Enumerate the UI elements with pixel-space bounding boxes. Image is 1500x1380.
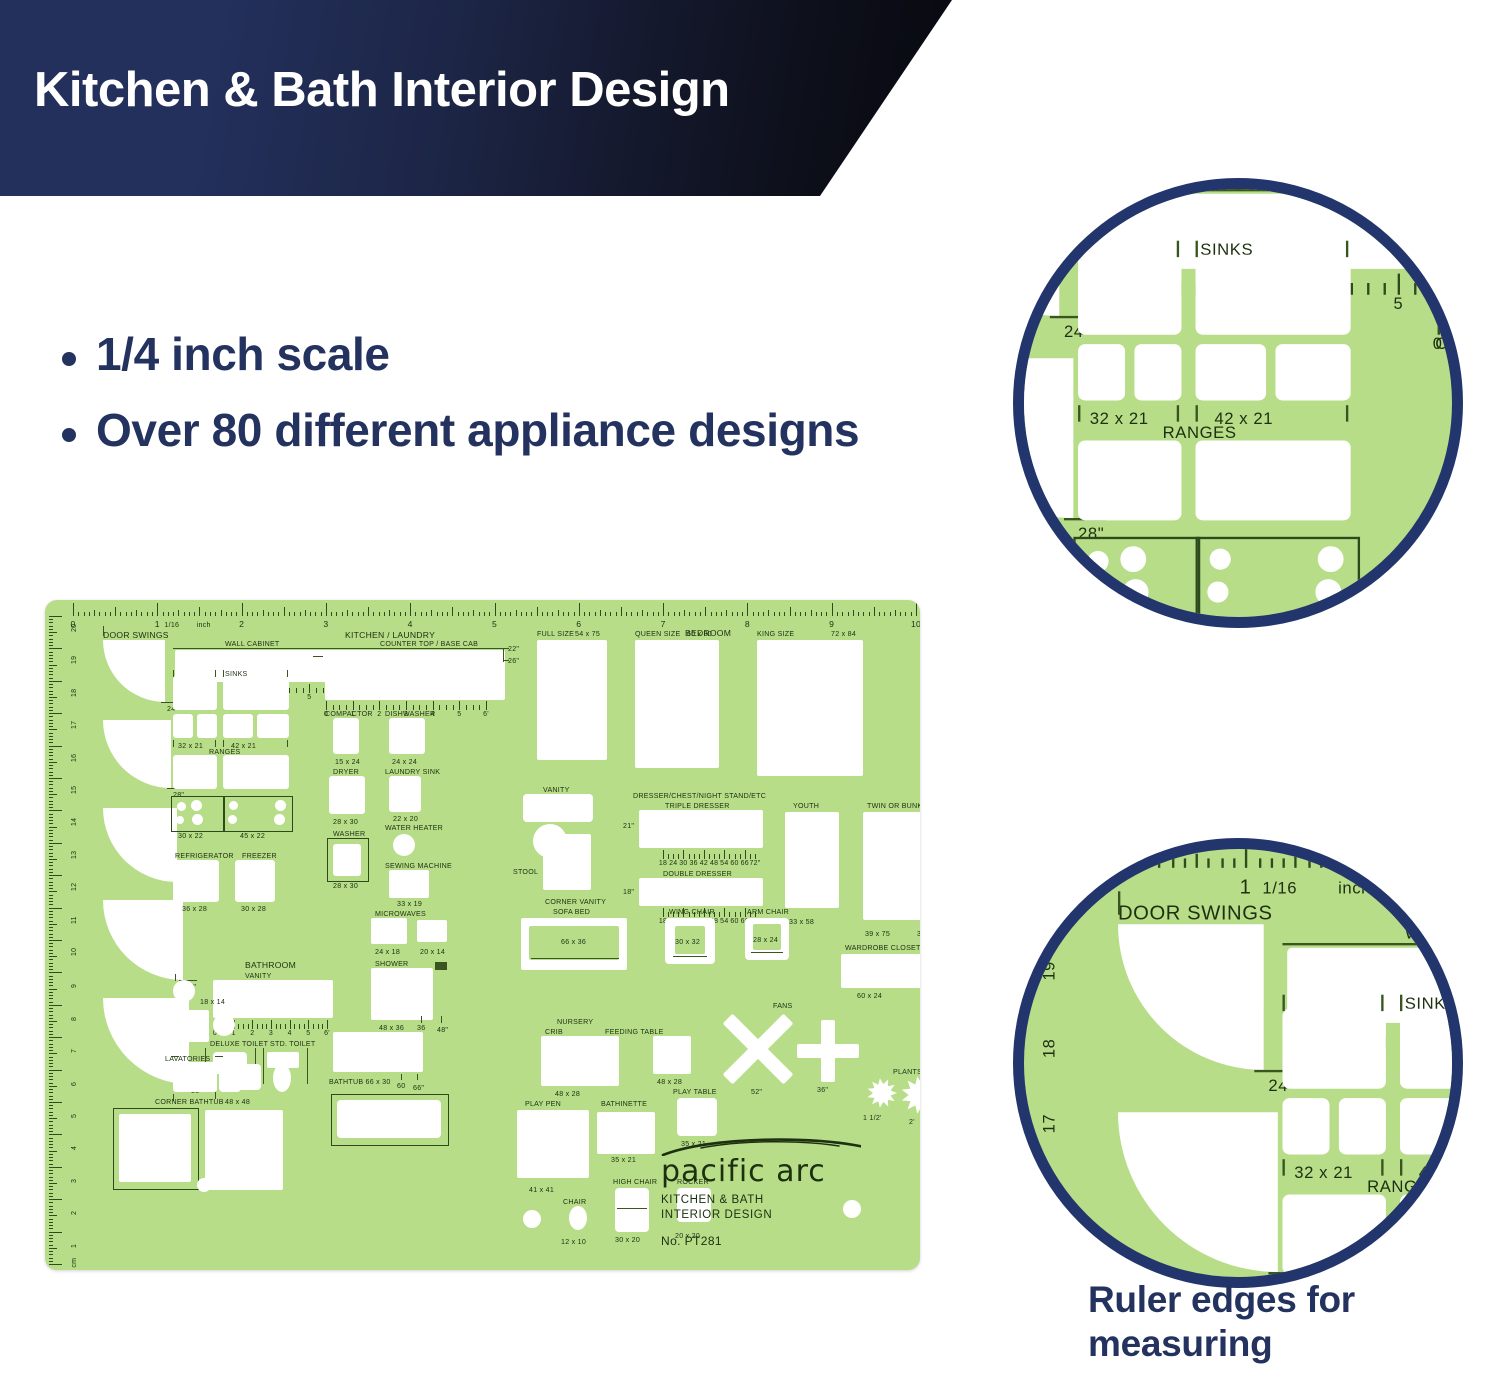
ruler-tick xyxy=(315,612,316,616)
ruler-tick xyxy=(558,610,559,616)
sink-cutout xyxy=(1283,1098,1330,1154)
range-size: 45 x 22 xyxy=(240,832,265,840)
inset-ruler xyxy=(1438,314,1463,335)
ruler-tick xyxy=(49,1196,53,1197)
high-chair-size: 30 x 20 xyxy=(615,1236,640,1244)
ruler-tick xyxy=(49,836,53,837)
ruler-tick xyxy=(911,612,912,616)
ruler-tick xyxy=(49,950,53,951)
ruler-tick xyxy=(800,612,801,616)
ruler-tick xyxy=(49,619,53,620)
microwave-cutout xyxy=(417,920,447,942)
ruler-tick xyxy=(336,612,337,616)
sink-tick xyxy=(215,670,216,677)
sewing-machine-label: SEWING MACHINE xyxy=(385,862,452,870)
ruler-tick xyxy=(574,612,575,616)
ruler-tick xyxy=(49,1070,62,1071)
ruler-tick xyxy=(49,658,53,659)
shower-tick xyxy=(421,1016,422,1023)
ruler-tick xyxy=(262,1024,263,1029)
shower-mark: 36 xyxy=(417,1024,425,1032)
ruler-tick xyxy=(49,982,53,983)
ruler-tick xyxy=(49,775,53,776)
ruler-tick xyxy=(263,610,264,616)
ruler-unit-label: inch xyxy=(197,621,211,629)
laundry-sink-cutout xyxy=(389,776,421,812)
top-ruler-label: 10 xyxy=(911,619,920,629)
plant-large-cutout xyxy=(901,1076,920,1114)
door-swing-cutout xyxy=(1118,1112,1278,1272)
ruler-tick xyxy=(505,612,506,616)
ruler-tick xyxy=(521,612,522,616)
ruler-tick xyxy=(173,612,174,616)
callout-circle-appliances: 0123456789101/16inch20191817161514131211… xyxy=(1013,178,1463,628)
ruler-tick xyxy=(49,1219,53,1220)
sink-cutout xyxy=(1078,344,1125,400)
ruler-tick xyxy=(49,1264,62,1265)
ruler-tick xyxy=(49,1248,57,1249)
ruler-tick xyxy=(745,908,746,917)
ruler-tick xyxy=(1383,283,1385,295)
ruler-tick-label: 6' xyxy=(483,711,489,718)
ruler-tick xyxy=(49,898,53,899)
ruler-tick xyxy=(49,1173,53,1174)
triple-dresser-depth: 21" xyxy=(623,822,634,830)
ruler-tick xyxy=(49,846,53,847)
ruler-tick xyxy=(890,612,891,616)
ruler-tick xyxy=(821,612,822,616)
ruler-tick xyxy=(289,612,290,616)
burner-circle xyxy=(191,800,202,811)
dresser-scale-label: 48 xyxy=(710,860,718,867)
ruler-tick xyxy=(709,854,710,859)
ruler-tick xyxy=(1270,858,1272,867)
ruler-tick-label: 2 xyxy=(250,1030,254,1037)
ruler-tick xyxy=(49,1222,53,1223)
ruler-tick xyxy=(684,610,685,616)
ruler-tick xyxy=(732,612,733,616)
ruler-tick xyxy=(49,661,53,662)
ruler-tick xyxy=(49,720,53,721)
ruler-tick xyxy=(49,1057,53,1058)
ruler-tick-label: 5 xyxy=(307,694,311,701)
microwave-size: 20 x 14 xyxy=(420,948,445,956)
ruler-tick xyxy=(1345,847,1347,868)
ruler-tick xyxy=(49,1086,57,1087)
bathinette-size: 35 x 21 xyxy=(611,1156,636,1164)
bed-label: QUEEN SIZE xyxy=(635,630,680,638)
ruler-tick xyxy=(1097,854,1099,868)
ruler-tick xyxy=(49,1040,53,1041)
ruler-tick xyxy=(895,610,896,616)
left-ruler-label: 8 xyxy=(71,1017,78,1021)
left-ruler-label: 11 xyxy=(71,916,78,924)
sink-tick xyxy=(1346,405,1348,421)
ruler-tick xyxy=(231,612,232,616)
ruler-tick xyxy=(735,912,736,917)
ruler-tick xyxy=(1072,858,1074,867)
ruler-tick xyxy=(716,612,717,616)
bed-size: 72 x 84 xyxy=(831,630,856,638)
ruler-tick xyxy=(120,612,121,616)
ruler-tick xyxy=(49,1112,53,1113)
ruler-tick xyxy=(663,850,664,859)
toilet-tick xyxy=(307,1048,308,1084)
sink-tick xyxy=(1400,995,1402,1011)
ruler-tick xyxy=(331,612,332,616)
ruler-tick xyxy=(49,940,62,941)
twin-mark: 30 xyxy=(917,930,920,938)
ruler-tick xyxy=(673,854,674,859)
ruler-tick xyxy=(552,612,553,616)
ruler-tick xyxy=(1147,847,1149,868)
washer-label: WASHER xyxy=(1454,617,1463,628)
washer-size: 28 x 30 xyxy=(333,882,358,890)
left-ruler-label: 4 xyxy=(71,1146,78,1150)
inset-ruler xyxy=(663,850,755,859)
ruler-tick xyxy=(152,612,153,616)
bullet-item-scale: 1/4 inch scale xyxy=(62,326,962,384)
ruler-tick xyxy=(49,953,53,954)
page-title: Kitchen & Bath Interior Design xyxy=(34,62,730,118)
ruler-tick xyxy=(1258,858,1260,867)
ruler-tick xyxy=(49,998,53,999)
ruler-tick xyxy=(49,746,62,747)
ruler-tick xyxy=(49,1005,62,1006)
ruler-tick xyxy=(49,632,57,633)
ruler-tick xyxy=(49,1047,53,1048)
ruler-tick xyxy=(49,1050,53,1051)
top-ruler-label: 4 xyxy=(408,619,413,629)
ruler-tick xyxy=(695,612,696,616)
ruler-tick xyxy=(426,612,427,616)
burner-circle xyxy=(1085,584,1104,603)
chair-line xyxy=(751,952,783,953)
ruler-tick xyxy=(779,612,780,616)
ruler-tick xyxy=(49,804,53,805)
ruler-tick xyxy=(205,612,206,616)
bed-label: KING SIZE xyxy=(757,630,794,638)
ruler-tick xyxy=(49,1076,53,1077)
shower-tick xyxy=(441,1016,442,1023)
ruler-tick xyxy=(49,1170,53,1171)
sink-tick xyxy=(223,740,224,747)
ruler-tick xyxy=(668,612,669,616)
wall-cabinet-rule xyxy=(1283,943,1464,945)
dryer-cutout xyxy=(1445,490,1463,579)
ruler-tick xyxy=(1367,283,1369,295)
top-ruler xyxy=(73,603,916,616)
logo-arc-icon xyxy=(661,1134,861,1156)
ruler-tick xyxy=(318,1024,319,1029)
ruler-tick xyxy=(858,612,859,616)
bullet-dot-icon xyxy=(62,428,76,442)
ruler-tick xyxy=(737,612,738,616)
sofa-bed-label: SOFA BED xyxy=(553,908,590,916)
ruler-tick xyxy=(489,612,490,616)
ruler-tick xyxy=(242,603,243,616)
callout-circle-ruler: 0123456789101/16inch20191817161514131211… xyxy=(1013,838,1463,1288)
ruler-tick xyxy=(105,612,106,616)
ruler-tick xyxy=(421,612,422,616)
ruler-tick xyxy=(110,612,111,616)
ruler-tick xyxy=(49,678,53,679)
wall-cabinet-rule xyxy=(1078,189,1463,191)
bullet-item-designs: Over 80 different appliance designs xyxy=(62,402,962,460)
ruler-tick xyxy=(49,1141,53,1142)
brand-logo-block: pacific arcKITCHEN & BATHINTERIOR DESIGN… xyxy=(661,1134,881,1248)
ruler-tick xyxy=(284,607,285,616)
lav-tick xyxy=(171,1056,179,1057)
ruler-tick xyxy=(394,612,395,616)
top-ruler-label: 8 xyxy=(745,619,750,629)
ruler-tick xyxy=(631,612,632,616)
burner-circle xyxy=(228,815,237,824)
ruler-tick xyxy=(49,995,53,996)
double-dresser-depth: 18" xyxy=(623,888,634,896)
ruler-tick xyxy=(49,1225,53,1226)
ruler-tick xyxy=(49,729,57,730)
ruler-tick xyxy=(49,1164,53,1165)
crib-cutout xyxy=(541,1036,619,1086)
ruler-tick xyxy=(1407,858,1409,867)
ruler-tick xyxy=(900,612,901,616)
left-ruler-zero-label: 0 cm xyxy=(71,1258,78,1270)
ruler-tick xyxy=(49,989,57,990)
play-pen-cutout xyxy=(517,1110,589,1178)
sink-cutout xyxy=(1134,344,1181,400)
ruler-tick xyxy=(238,1024,239,1029)
ruler-tick xyxy=(621,607,622,616)
bed-cutout xyxy=(757,640,863,776)
ruler-tick xyxy=(49,1183,57,1184)
vanity-cutout xyxy=(523,794,593,822)
ruler-tick xyxy=(49,1251,53,1252)
ruler-tick xyxy=(49,827,57,828)
bathtub-cutout xyxy=(205,1110,283,1190)
range-size: 30 x 22 xyxy=(1090,621,1149,628)
ruler-tick xyxy=(1351,283,1353,295)
chair-label: CHAIR xyxy=(563,1198,586,1206)
ruler-tick xyxy=(49,684,53,685)
ruler-tick xyxy=(49,1167,62,1168)
sink-tick xyxy=(1381,995,1383,1011)
ruler-tick xyxy=(49,833,53,834)
high-chair-cutout xyxy=(615,1188,649,1232)
ruler-tick xyxy=(605,612,606,616)
lavatory-size: 18 x 14 xyxy=(200,998,225,1006)
bathtub-label: BATHTUB 66 x 30 xyxy=(329,1078,391,1086)
ruler-tick xyxy=(49,772,53,773)
ruler-tick xyxy=(126,612,127,616)
left-ruler-label: 15 xyxy=(1043,1267,1059,1286)
bathroom-title: BATHROOM xyxy=(245,960,296,970)
ruler-tick xyxy=(642,610,643,616)
ruler-tick xyxy=(379,701,380,710)
ruler-tick-label: 5 xyxy=(306,1030,310,1037)
ruler-tick xyxy=(221,610,222,616)
left-ruler-label: 10 xyxy=(71,948,78,956)
ruler-tick xyxy=(49,930,53,931)
ruler-tick xyxy=(747,603,748,616)
bathtub-cutout xyxy=(337,1100,441,1138)
ruler-tick xyxy=(1295,854,1297,868)
ruler-tick xyxy=(276,1024,277,1029)
ruler-tick xyxy=(1382,858,1384,867)
ruler-tick xyxy=(811,610,812,616)
wing-chair-size: 30 x 32 xyxy=(675,938,700,946)
compactor-cutout xyxy=(1454,354,1463,439)
ruler-tick xyxy=(49,716,53,717)
ruler-tick xyxy=(49,1015,53,1016)
ruler-tick xyxy=(49,1066,53,1067)
ruler-tick xyxy=(49,1228,53,1229)
ruler-tick xyxy=(353,701,354,710)
left-ruler-label: 15 xyxy=(71,786,78,794)
ruler-tick xyxy=(157,603,158,616)
high-chair-line xyxy=(617,1208,647,1209)
wardrobe-cutout xyxy=(841,954,920,988)
ruler-tick-label: 4 xyxy=(288,1030,292,1037)
ruler-tick xyxy=(49,1232,62,1233)
wardrobe-size: 60 x 24 xyxy=(857,992,882,1000)
ruler-tick xyxy=(49,1092,53,1093)
ruler-tick xyxy=(700,612,701,616)
sofa-back-line xyxy=(531,958,619,959)
shower-label: SHOWER xyxy=(375,960,408,968)
bed-label: FULL SIZE xyxy=(537,630,574,638)
chair-size: 12 x 10 xyxy=(561,1238,586,1246)
corner-bathtub-size: 48 x 48 xyxy=(225,1098,250,1106)
ruler-tick xyxy=(49,888,53,889)
ruler-tick xyxy=(49,736,53,737)
ruler-tick xyxy=(473,705,474,710)
ruler-tick xyxy=(447,612,448,616)
dryer-label: DRYER xyxy=(1454,471,1463,490)
ruler-tick xyxy=(49,784,53,785)
ruler-tick xyxy=(49,622,53,623)
ruler-tick xyxy=(49,1099,53,1100)
ruler-tick xyxy=(49,985,53,986)
ruler-tick xyxy=(49,959,53,960)
bullet-text: 1/4 inch scale xyxy=(96,326,962,384)
ruler-tick xyxy=(406,701,407,710)
ruler-tick xyxy=(1048,838,1050,868)
ruler-tick xyxy=(236,612,237,616)
ruler-tick xyxy=(347,610,348,616)
ruler-tick xyxy=(689,612,690,616)
ruler-tick xyxy=(678,854,679,859)
triple-dresser-label: TRIPLE DRESSER xyxy=(665,802,730,810)
sink-tick xyxy=(287,740,288,747)
ruler-tick xyxy=(49,1060,53,1061)
ruler-tick xyxy=(49,972,62,973)
ruler-tick xyxy=(49,655,53,656)
ruler-tick xyxy=(784,612,785,616)
ruler-unit-label: inch xyxy=(1338,880,1371,899)
dresser-scale-label: 60 xyxy=(730,918,738,925)
ruler-tick xyxy=(49,1102,62,1103)
ruler-tick xyxy=(415,612,416,616)
freezer-label: FREEZER xyxy=(242,852,277,860)
ruler-tick xyxy=(1013,868,1022,870)
dresser-scale-label: 72" xyxy=(749,860,760,867)
bathtub-tick xyxy=(417,1074,418,1080)
ruler-sixteenth-label: 1/16 xyxy=(1262,880,1297,899)
ruler-tick xyxy=(463,612,464,616)
plant-size-large: 2' xyxy=(909,1118,915,1126)
ruler-tick xyxy=(616,612,617,616)
range-cutout xyxy=(1196,440,1351,520)
crib-label: CRIB xyxy=(545,1028,563,1036)
ruler-tick xyxy=(49,713,62,714)
dresser-scale-label: 42 xyxy=(700,860,708,867)
corner-vanity-label: CORNER VANITY xyxy=(545,898,606,906)
ruler-tick xyxy=(49,891,57,892)
ruler-tick xyxy=(184,612,185,616)
sink-tick xyxy=(1381,1159,1383,1175)
ruler-tick xyxy=(1085,858,1087,867)
ruler-tick xyxy=(49,882,53,883)
high-chair-label: HIGH CHAIR xyxy=(613,1178,657,1186)
ruler-tick xyxy=(168,612,169,616)
ruler-tick xyxy=(78,612,79,616)
lavatory-circle xyxy=(213,1014,235,1036)
ruler-tick xyxy=(610,612,611,616)
ruler-tick xyxy=(1134,858,1136,867)
ruler-tick xyxy=(49,924,57,925)
ruler-tick xyxy=(674,612,675,616)
ruler-tick xyxy=(84,612,85,616)
sink-tick xyxy=(1283,995,1285,1011)
top-ruler-label: 2 xyxy=(239,619,244,629)
ruler-tick xyxy=(49,856,53,857)
ruler-tick xyxy=(373,612,374,616)
sink-tick xyxy=(1196,405,1198,421)
shower-mark: 48" xyxy=(437,1026,448,1034)
sink-cutout xyxy=(197,714,217,738)
ruler-tick xyxy=(699,854,700,859)
ruler-tick xyxy=(1013,1020,1022,1022)
dishwasher-size: 24 x 24 xyxy=(392,758,417,766)
ruler-tick xyxy=(740,854,741,859)
stool-small-cutout xyxy=(523,1210,541,1228)
ruler-tick xyxy=(49,908,62,909)
feeding-table-size: 48 x 28 xyxy=(657,1078,682,1086)
ruler-tick xyxy=(1444,838,1446,868)
sink-cutout xyxy=(1196,255,1351,335)
ruler-tick xyxy=(49,823,53,824)
ruler-tick xyxy=(326,603,327,616)
ruler-tick xyxy=(452,607,453,616)
ruler-tick xyxy=(711,612,712,616)
ruler-tick xyxy=(1430,283,1432,295)
ruler-tick xyxy=(848,612,849,616)
ruler-tick xyxy=(49,703,53,704)
ruler-tick xyxy=(1308,858,1310,867)
sink-cutout xyxy=(1400,1009,1463,1089)
range-size: 30 x 22 xyxy=(178,832,203,840)
sink-size: 32 x 21 xyxy=(1294,1164,1353,1183)
ruler-tick xyxy=(658,612,659,616)
ruler-tick xyxy=(1419,858,1421,867)
std-toilet-label: STD. TOILET xyxy=(270,1040,315,1048)
ruler-tick xyxy=(49,859,57,860)
ruler-tick xyxy=(316,688,317,693)
ruler-tick xyxy=(226,612,227,616)
toilet-tick xyxy=(263,1048,264,1084)
counter-rule xyxy=(1431,189,1463,191)
